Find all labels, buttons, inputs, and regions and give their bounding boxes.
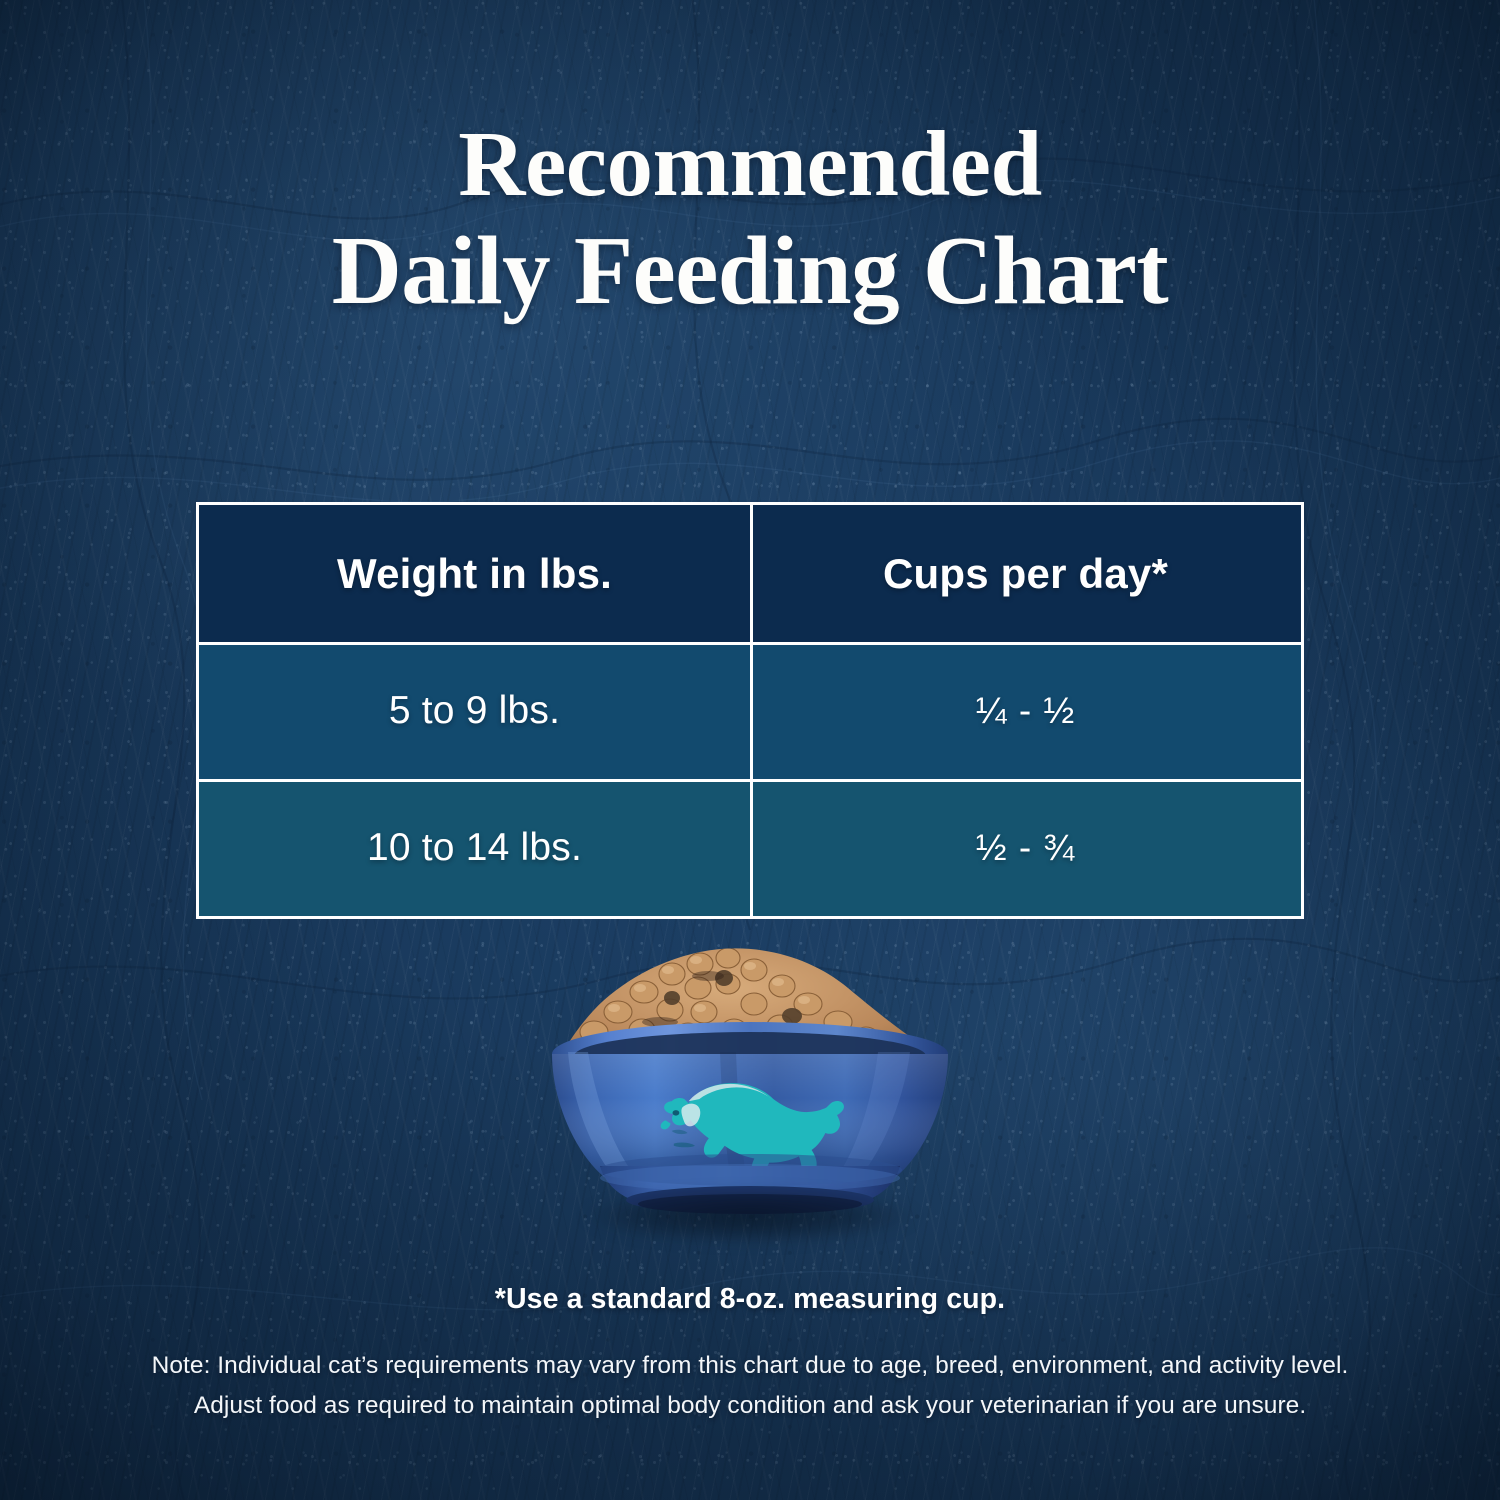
table-header-label-weight: Weight in lbs. [337,550,612,597]
table-cell-weight-row-2: 10 to 14 lbs. [199,779,750,916]
footnote-note: Note: Individual cat’s requirements may … [0,1346,1500,1425]
feeding-chart-page: Recommended Daily Feeding Chart Weight i… [0,0,1500,1500]
table-value-weight-row-2: 10 to 14 lbs. [367,826,582,869]
table-cell-cups-row-2: ½ - ¾ [750,779,1301,916]
food-bowl-image [492,944,1008,1274]
footnote-measuring-cup: *Use a standard 8-oz. measuring cup. [0,1283,1500,1316]
footnote-note-line-1: Note: Individual cat’s requirements may … [0,1346,1500,1386]
table-header-label-cups: Cups per day* [883,550,1168,597]
page-title-line-2: Daily Feeding Chart [58,222,1442,321]
table-cell-cups-row-1: ¼ - ½ [750,642,1301,779]
table-header-cell-weight: Weight in lbs. [199,505,750,642]
footnote-note-line-2: Adjust food as required to maintain opti… [0,1386,1500,1426]
feeding-table: Weight in lbs. Cups per day* 5 to 9 lbs.… [196,502,1304,919]
table-header-row: Weight in lbs. Cups per day* [199,505,1301,642]
table-value-cups-row-1: ¼ - ½ [976,690,1076,731]
page-title-line-1: Recommended [58,118,1442,213]
table-row: 5 to 9 lbs. ¼ - ½ [199,642,1301,779]
table-row: 10 to 14 lbs. ½ - ¾ [199,779,1301,916]
table-cell-weight-row-1: 5 to 9 lbs. [199,642,750,779]
table-header-cell-cups: Cups per day* [750,505,1301,642]
table-value-cups-row-2: ½ - ¾ [976,827,1076,868]
bowl-drop-shadow [528,1180,972,1252]
page-title: Recommended Daily Feeding Chart [0,118,1500,321]
table-value-weight-row-1: 5 to 9 lbs. [389,689,560,732]
